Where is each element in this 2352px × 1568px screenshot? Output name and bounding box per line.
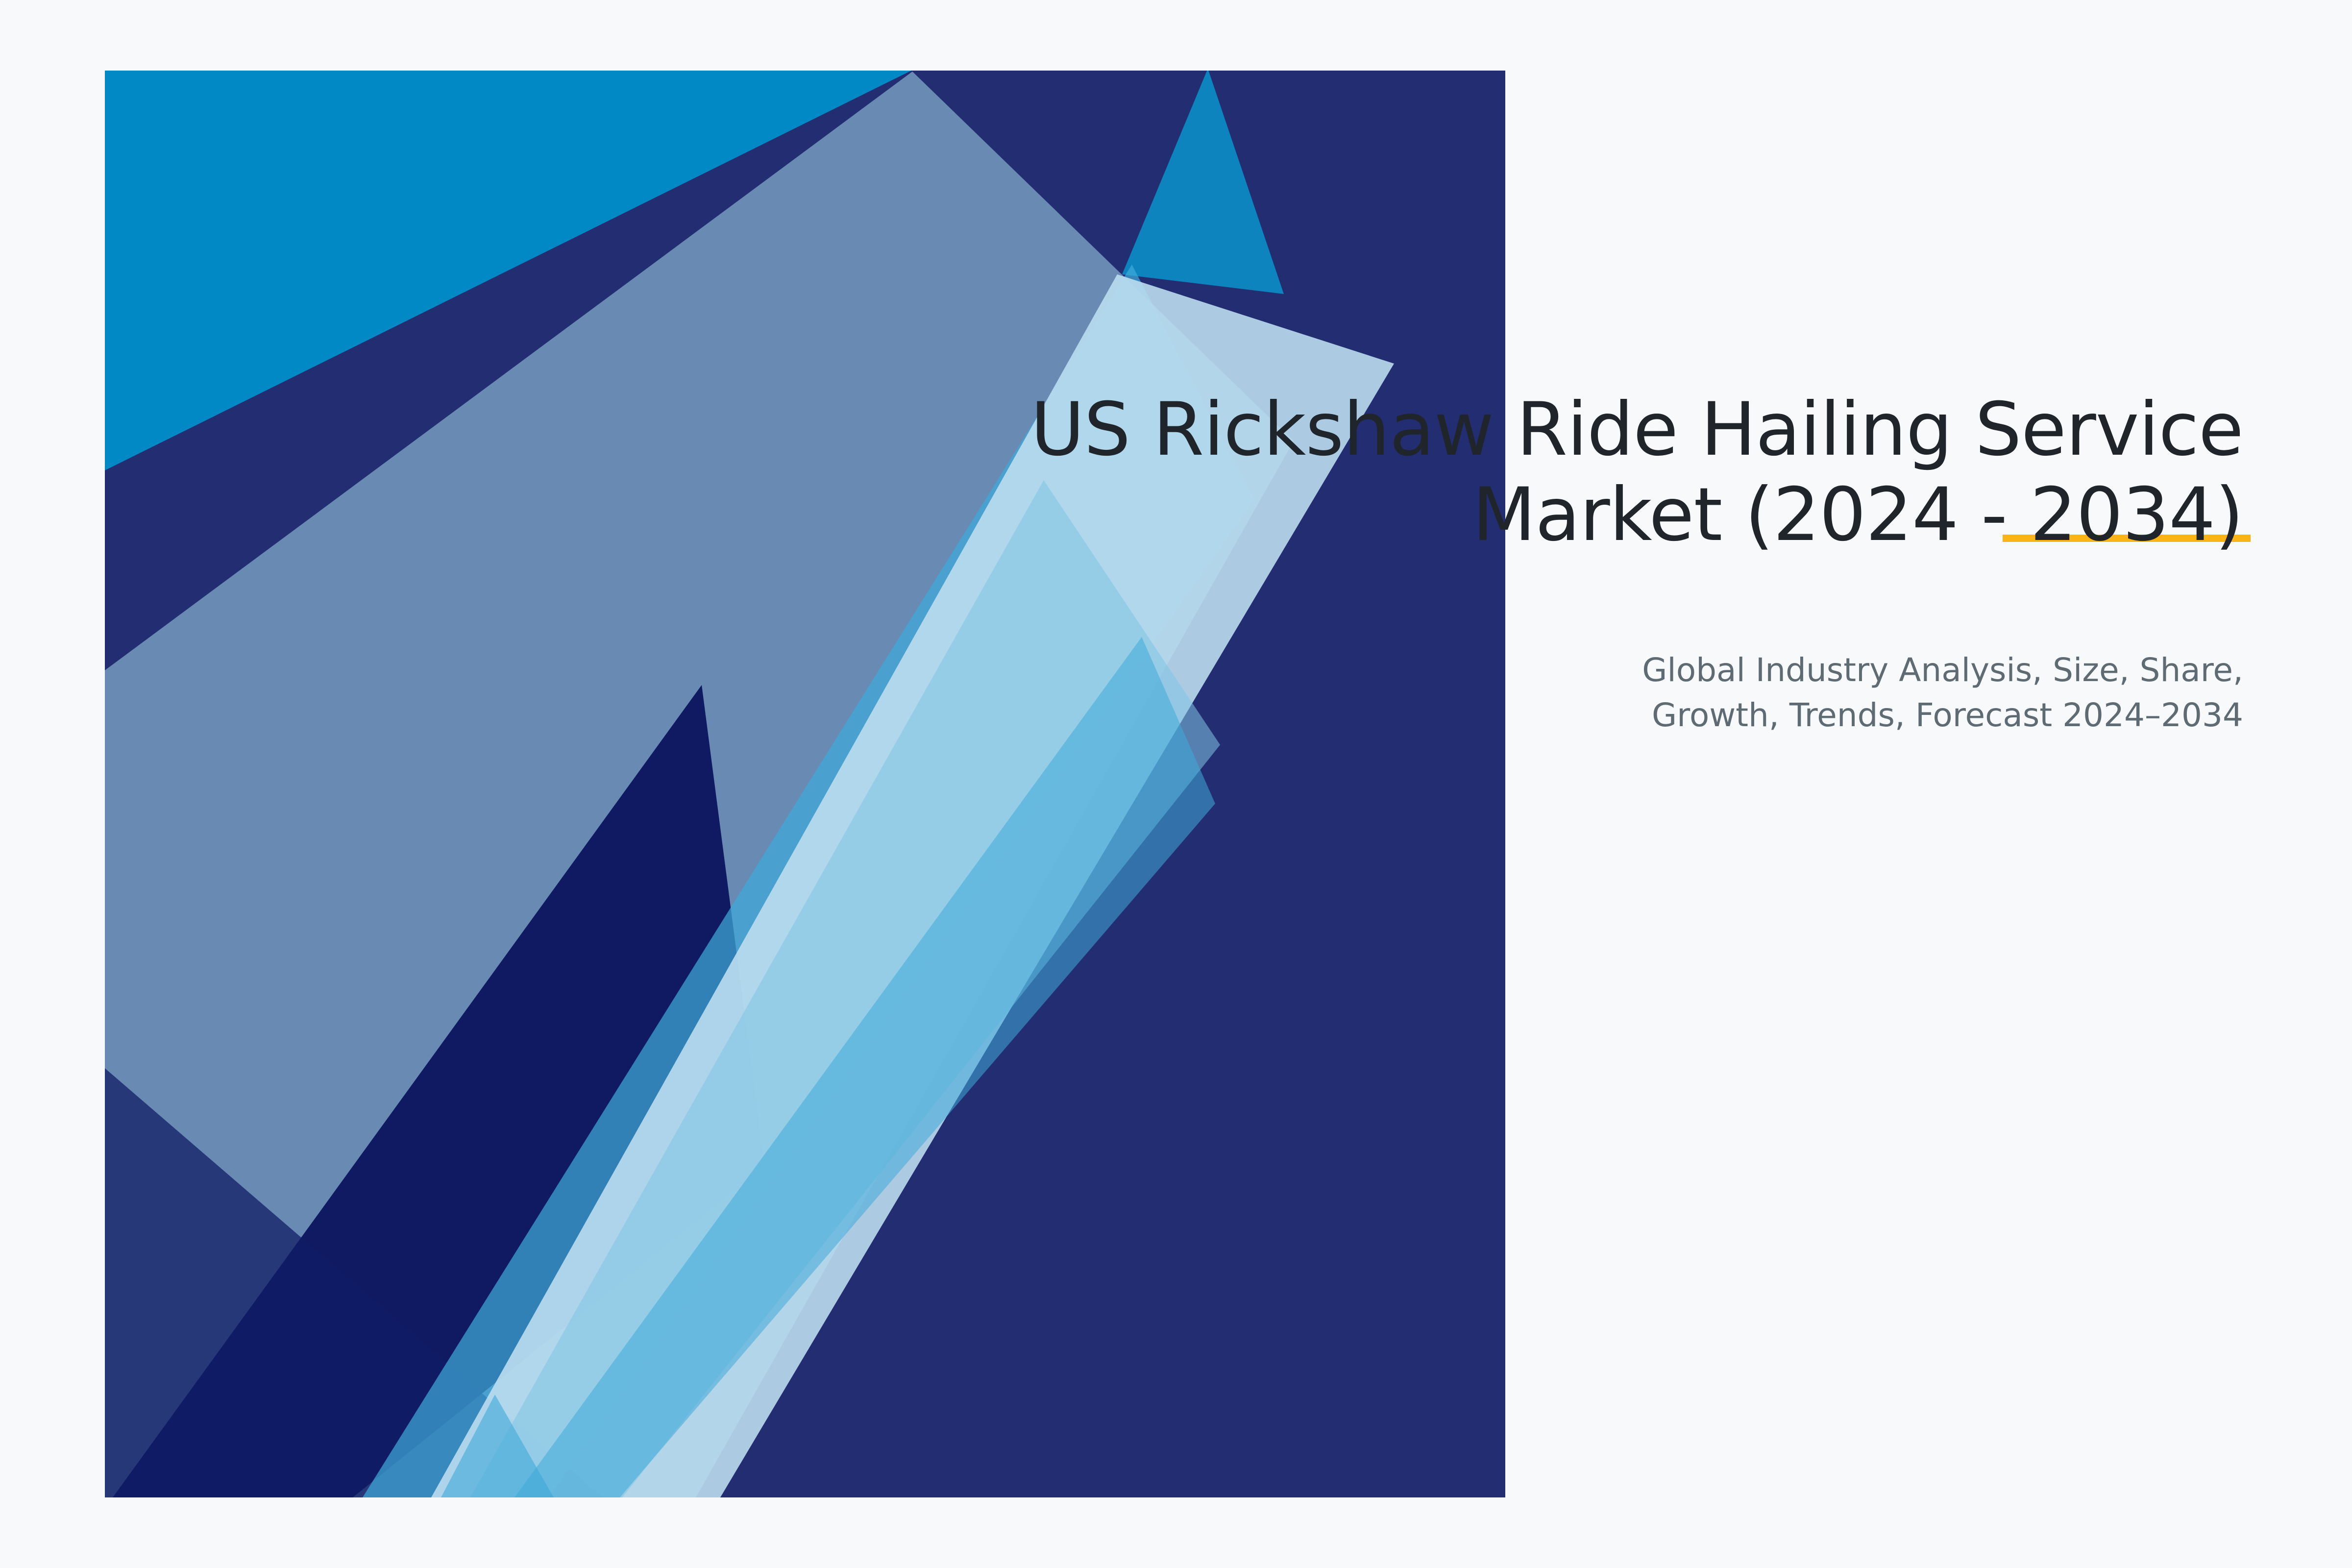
shape-bottom-notch xyxy=(441,1395,554,1497)
page-subtitle: Global Industry Analysis, Size, Share, G… xyxy=(1165,648,2243,738)
shape-deep-navy-bottom xyxy=(105,1068,603,1497)
page-title-line-2: Market (2024 - 2034) xyxy=(969,472,2243,558)
shape-navy-top-right-triangle xyxy=(911,71,1505,333)
shape-navy-wedge xyxy=(105,71,1505,1497)
page-title: US Rickshaw Ride Hailing Service Market … xyxy=(969,387,2243,558)
shape-light-blue-wedge xyxy=(470,480,1220,1497)
page-subtitle-line-2: Growth, Trends, Forecast 2024–2034 xyxy=(1165,693,2243,738)
shape-steel-blue-body xyxy=(105,72,1294,1497)
page-subtitle-line-1: Global Industry Analysis, Size, Share, xyxy=(1165,648,2243,693)
shape-cyan-spike xyxy=(1122,69,1284,294)
cover-page: US Rickshaw Ride Hailing Service Market … xyxy=(0,0,2352,1568)
shape-deep-navy-spike xyxy=(113,685,764,1497)
shape-cyan-sliver-right xyxy=(514,637,1215,1497)
page-title-line-1: US Rickshaw Ride Hailing Service xyxy=(969,387,2243,472)
abstract-geometric-cover-graphic xyxy=(0,0,2352,1568)
shape-cyan-base xyxy=(105,71,1505,1497)
